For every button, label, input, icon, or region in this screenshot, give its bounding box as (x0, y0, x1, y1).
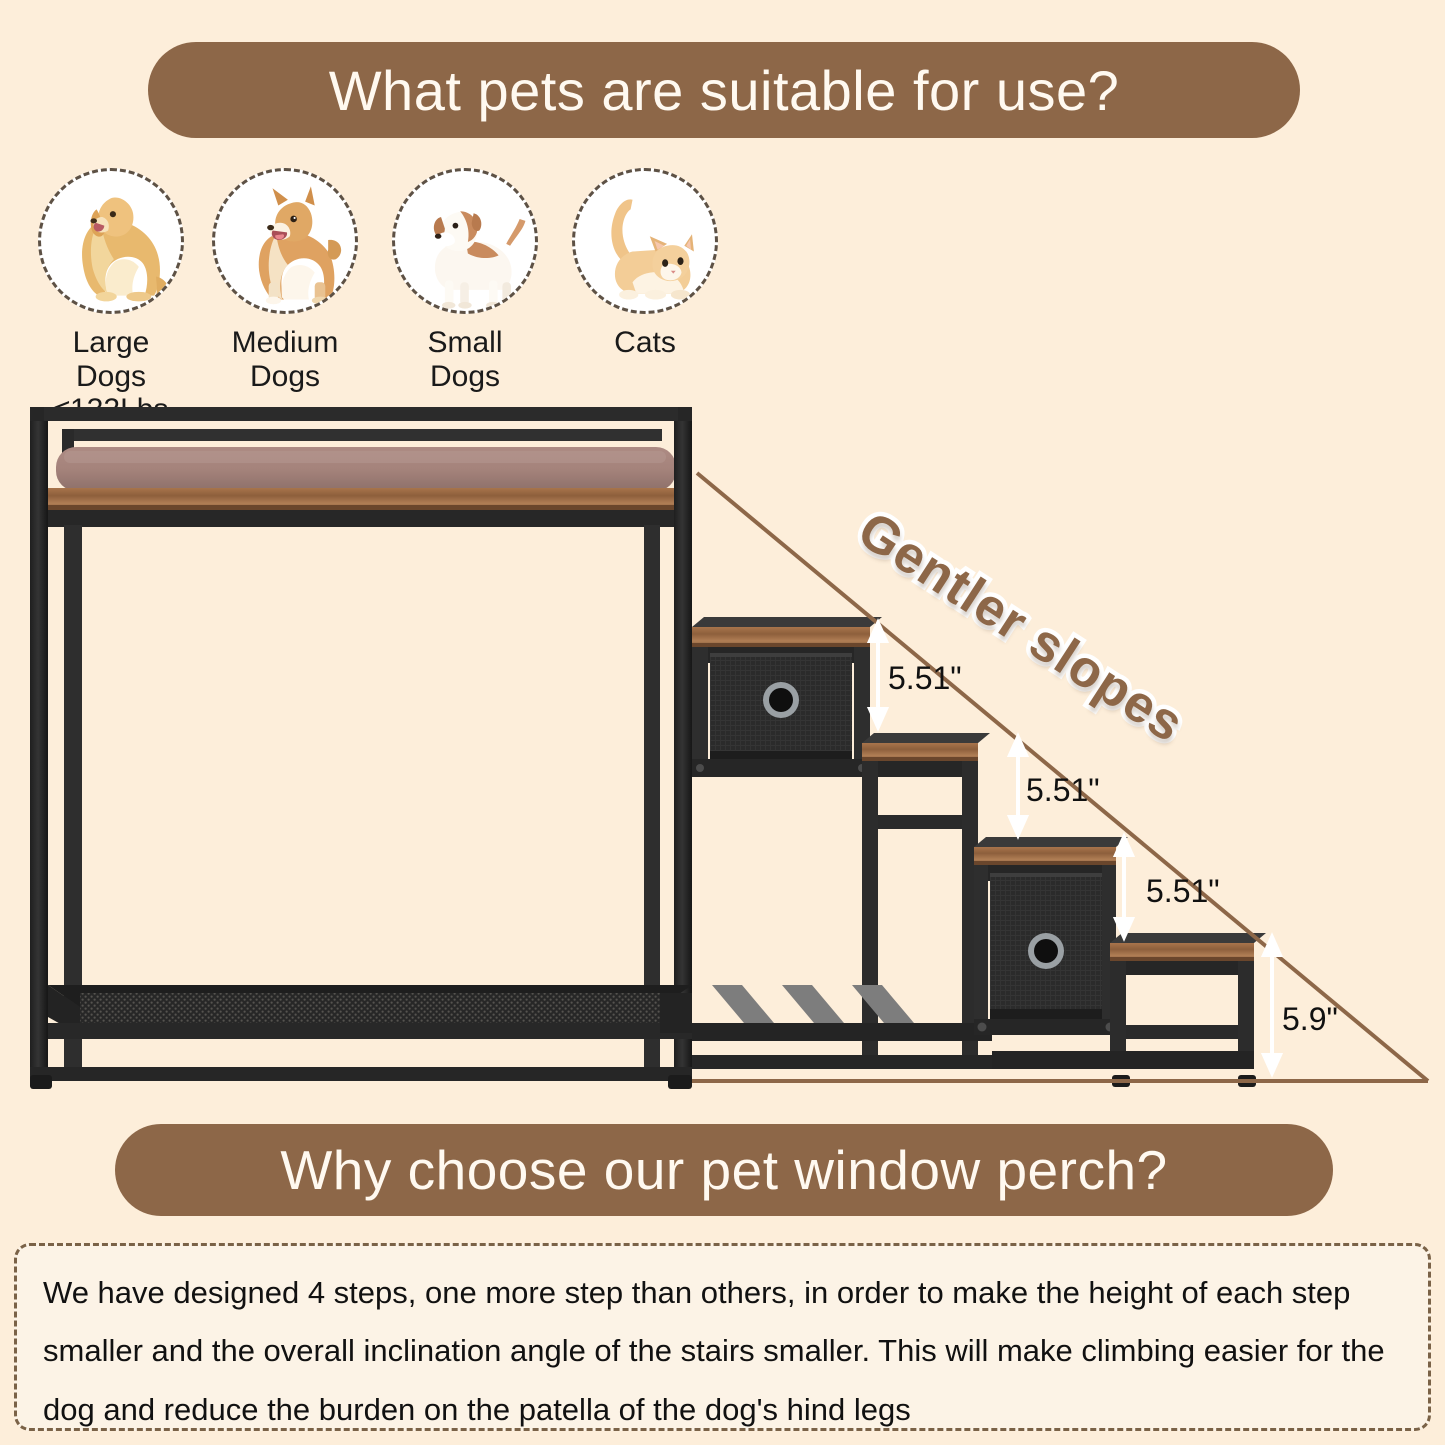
stair-step-1 (692, 617, 882, 777)
large-dog-icon (41, 171, 181, 311)
pet-category-small-dogs: Small Dogs (392, 168, 538, 393)
perch-mesh-shelf (80, 993, 660, 1027)
perch-left-rear-leg (30, 421, 48, 1081)
cat-photo-circle (572, 168, 718, 314)
medium-dog-icon (215, 171, 355, 311)
pet-category-large-dogs: Large Dogs ≤132Lbs (38, 168, 184, 427)
perch-main-frame (30, 407, 692, 1089)
description-text: We have designed 4 steps, one more step … (43, 1264, 1402, 1439)
bottom-title-banner: Why choose our pet window perch? (115, 1124, 1333, 1216)
pet-category-medium-dogs: Medium Dogs (212, 168, 358, 393)
infographic-page: What pets are suitable for use? (0, 0, 1445, 1445)
pet-category-row: Large Dogs ≤132Lbs (0, 160, 760, 400)
pet-category-label: Small Dogs (392, 326, 538, 393)
pet-category-label: Medium Dogs (212, 326, 358, 393)
cat-icon (575, 171, 715, 311)
dimension-label-step-1: 5.51" (888, 660, 962, 697)
top-title-text: What pets are suitable for use? (329, 58, 1120, 123)
top-title-banner: What pets are suitable for use? (148, 42, 1300, 138)
stair-step-3 (974, 837, 1128, 1035)
stair-step-2 (692, 733, 992, 1069)
perch-foot-left (30, 1075, 52, 1089)
medium-dog-photo-circle (212, 168, 358, 314)
description-box: We have designed 4 steps, one more step … (14, 1243, 1431, 1431)
perch-right-rear-leg (674, 421, 692, 1081)
small-dog-icon (395, 171, 535, 311)
pet-category-label: Cats (572, 326, 718, 360)
dimension-label-step-3: 5.51" (1146, 873, 1220, 910)
large-dog-photo-circle (38, 168, 184, 314)
bottom-title-text: Why choose our pet window perch? (280, 1138, 1167, 1202)
perch-foot-right (668, 1075, 692, 1089)
floor-braces (712, 985, 914, 1023)
dimension-label-step-4: 5.9" (1282, 1001, 1338, 1038)
small-dog-photo-circle (392, 168, 538, 314)
pet-category-cats: Cats (572, 168, 718, 360)
product-illustration (0, 395, 1445, 1095)
dimension-label-step-2: 5.51" (1026, 772, 1100, 809)
